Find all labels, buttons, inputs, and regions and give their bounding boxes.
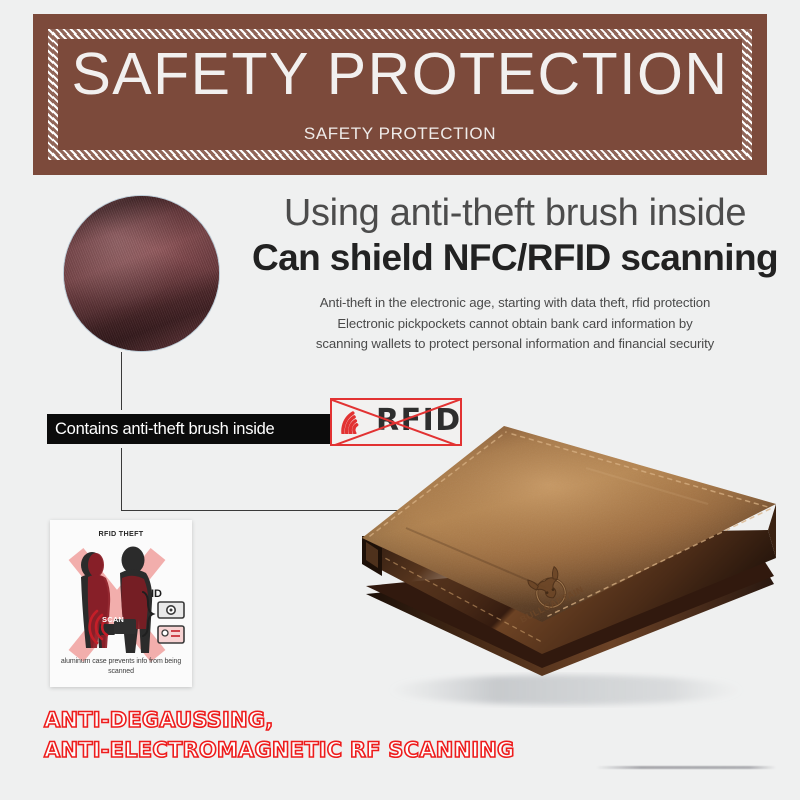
footer-line-1: ANTI-DEGAUSSING, (44, 708, 273, 732)
footer-red-headline: ANTI-DEGAUSSING,ANTI-ELECTROMAGNETIC RF … (44, 706, 644, 766)
header-banner: SAFETY PROTECTION SAFETY PROTECTION (33, 14, 767, 175)
callout-label-bar: Contains anti-theft brush inside (47, 414, 330, 444)
connector-line-vertical-upper (121, 352, 122, 410)
theft-card-caption: aluminum case prevents info from being s… (50, 657, 192, 677)
wallet-illustration: BULLCAPTAIN (336, 408, 800, 718)
theft-card-id-label: ID (151, 588, 162, 600)
headline-block: Using anti-theft brush inside Can shield… (250, 192, 780, 354)
wallet-product-photo: BULLCAPTAIN (336, 408, 800, 718)
banner-title: SAFETY PROTECTION (71, 45, 728, 104)
headline-line-2: Can shield NFC/RFID scanning (250, 237, 780, 280)
connector-line-vertical-lower (121, 448, 122, 511)
headline-line-1: Using anti-theft brush inside (250, 192, 780, 235)
description-paragraph: Anti-theft in the electronic age, starti… (250, 293, 780, 354)
theft-card-title: RFID THEFT (50, 529, 192, 538)
rfid-theft-illustration-card: RFID THEFT SCAN ID aluminum case prevent… (50, 520, 192, 687)
callout-label-text: Contains anti-theft brush inside (55, 420, 274, 439)
banner-subtitle: SAFETY PROTECTION (304, 124, 496, 144)
fabric-shading-overlay (64, 196, 219, 351)
theft-card-scan-label: SCAN (102, 615, 124, 624)
footer-line-2: ANTI-ELECTROMAGNETIC RF SCANNING (44, 738, 514, 762)
floor-shadow-line (596, 766, 776, 769)
fabric-closeup-circle (64, 196, 219, 351)
banner-text-group: SAFETY PROTECTION SAFETY PROTECTION (33, 14, 767, 175)
